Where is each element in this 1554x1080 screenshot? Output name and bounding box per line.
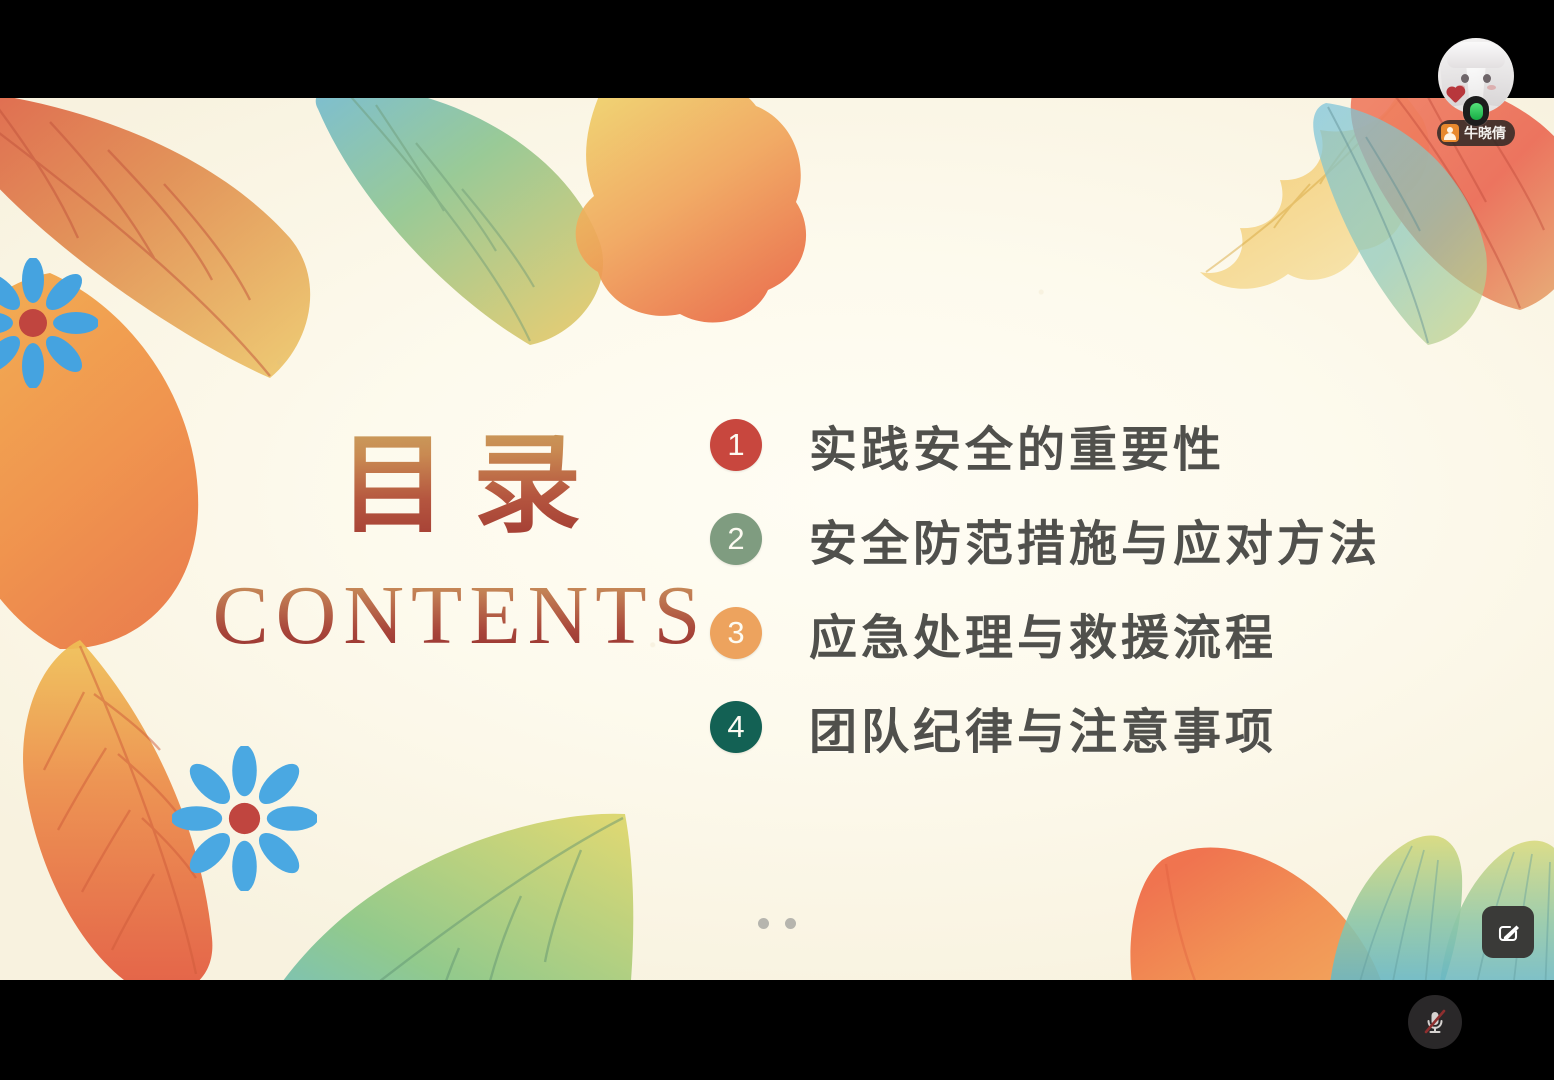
flower-blue-left-upper: [0, 258, 98, 388]
contents-number-badge-2: 2: [710, 513, 762, 565]
slide-title-block: 目录 CONTENTS: [150, 428, 770, 664]
contents-item-4[interactable]: 4 团队纪律与注意事项: [710, 680, 1550, 774]
mic-mute-button[interactable]: [1408, 995, 1462, 1049]
contents-item-2[interactable]: 2 安全防范措施与应对方法: [710, 492, 1550, 586]
contents-number-badge-1: 1: [710, 419, 762, 471]
letterbox-top-bar: [0, 0, 1554, 98]
leaf-red-orange-topleft: [0, 98, 370, 418]
avatar-eye-left: [1461, 74, 1469, 83]
leaf-green-yellow-topleft: [248, 98, 608, 383]
leaf-orange-bottomright: [1120, 828, 1400, 980]
contents-number-badge-4: 4: [710, 701, 762, 753]
contents-list: 1 实践安全的重要性 2 安全防范措施与应对方法 3 应急处理与救援流程 4: [710, 398, 1550, 774]
flower-blue-bottomleft: [172, 746, 317, 891]
contents-number-1: 1: [727, 429, 744, 460]
letterbox-bottom-bar: [0, 980, 1554, 1080]
annotate-pen-icon: [1494, 918, 1522, 946]
contents-number-badge-3: 3: [710, 607, 762, 659]
avatar-bangs: [1447, 42, 1505, 68]
contents-item-3[interactable]: 3 应急处理与救援流程: [710, 586, 1550, 680]
page-dot-1[interactable]: [758, 918, 769, 929]
annotate-button[interactable]: [1482, 906, 1534, 958]
leaf-orange-blob-topcenter: [548, 98, 848, 336]
mic-active-green-icon: [1463, 96, 1489, 126]
mic-level-bar: [1470, 103, 1483, 120]
microphone-muted-icon: [1420, 1007, 1450, 1037]
host-person-icon: [1441, 124, 1459, 142]
avatar-blush-right: [1487, 85, 1496, 90]
presentation-slide[interactable]: 目录 CONTENTS 1 实践安全的重要性 2 安全防范措施与应对方法 3: [0, 98, 1554, 980]
contents-label-3: 应急处理与救援流程: [809, 598, 1277, 668]
slide-title-en: CONTENTS: [150, 567, 770, 664]
contents-label-1: 实践安全的重要性: [809, 410, 1225, 480]
slide-title-cn: 目录: [150, 428, 770, 545]
page-indicator-dots[interactable]: [0, 918, 1554, 929]
page-dot-2[interactable]: [785, 918, 796, 929]
contents-number-4: 4: [727, 711, 744, 742]
video-conference-screen: 目录 CONTENTS 1 实践安全的重要性 2 安全防范措施与应对方法 3: [0, 0, 1554, 1080]
leaf-green-blue-bottomleft: [215, 798, 635, 980]
contents-label-2: 安全防范措施与应对方法: [809, 504, 1381, 574]
contents-item-1[interactable]: 1 实践安全的重要性: [710, 398, 1550, 492]
contents-label-4: 团队纪律与注意事项: [809, 692, 1277, 762]
contents-number-2: 2: [727, 523, 744, 554]
participant-name: 牛晓倩: [1464, 123, 1506, 143]
avatar-eye-right: [1483, 74, 1491, 83]
participant-overlay[interactable]: 牛晓倩: [1416, 38, 1536, 146]
contents-number-3: 3: [727, 617, 744, 648]
